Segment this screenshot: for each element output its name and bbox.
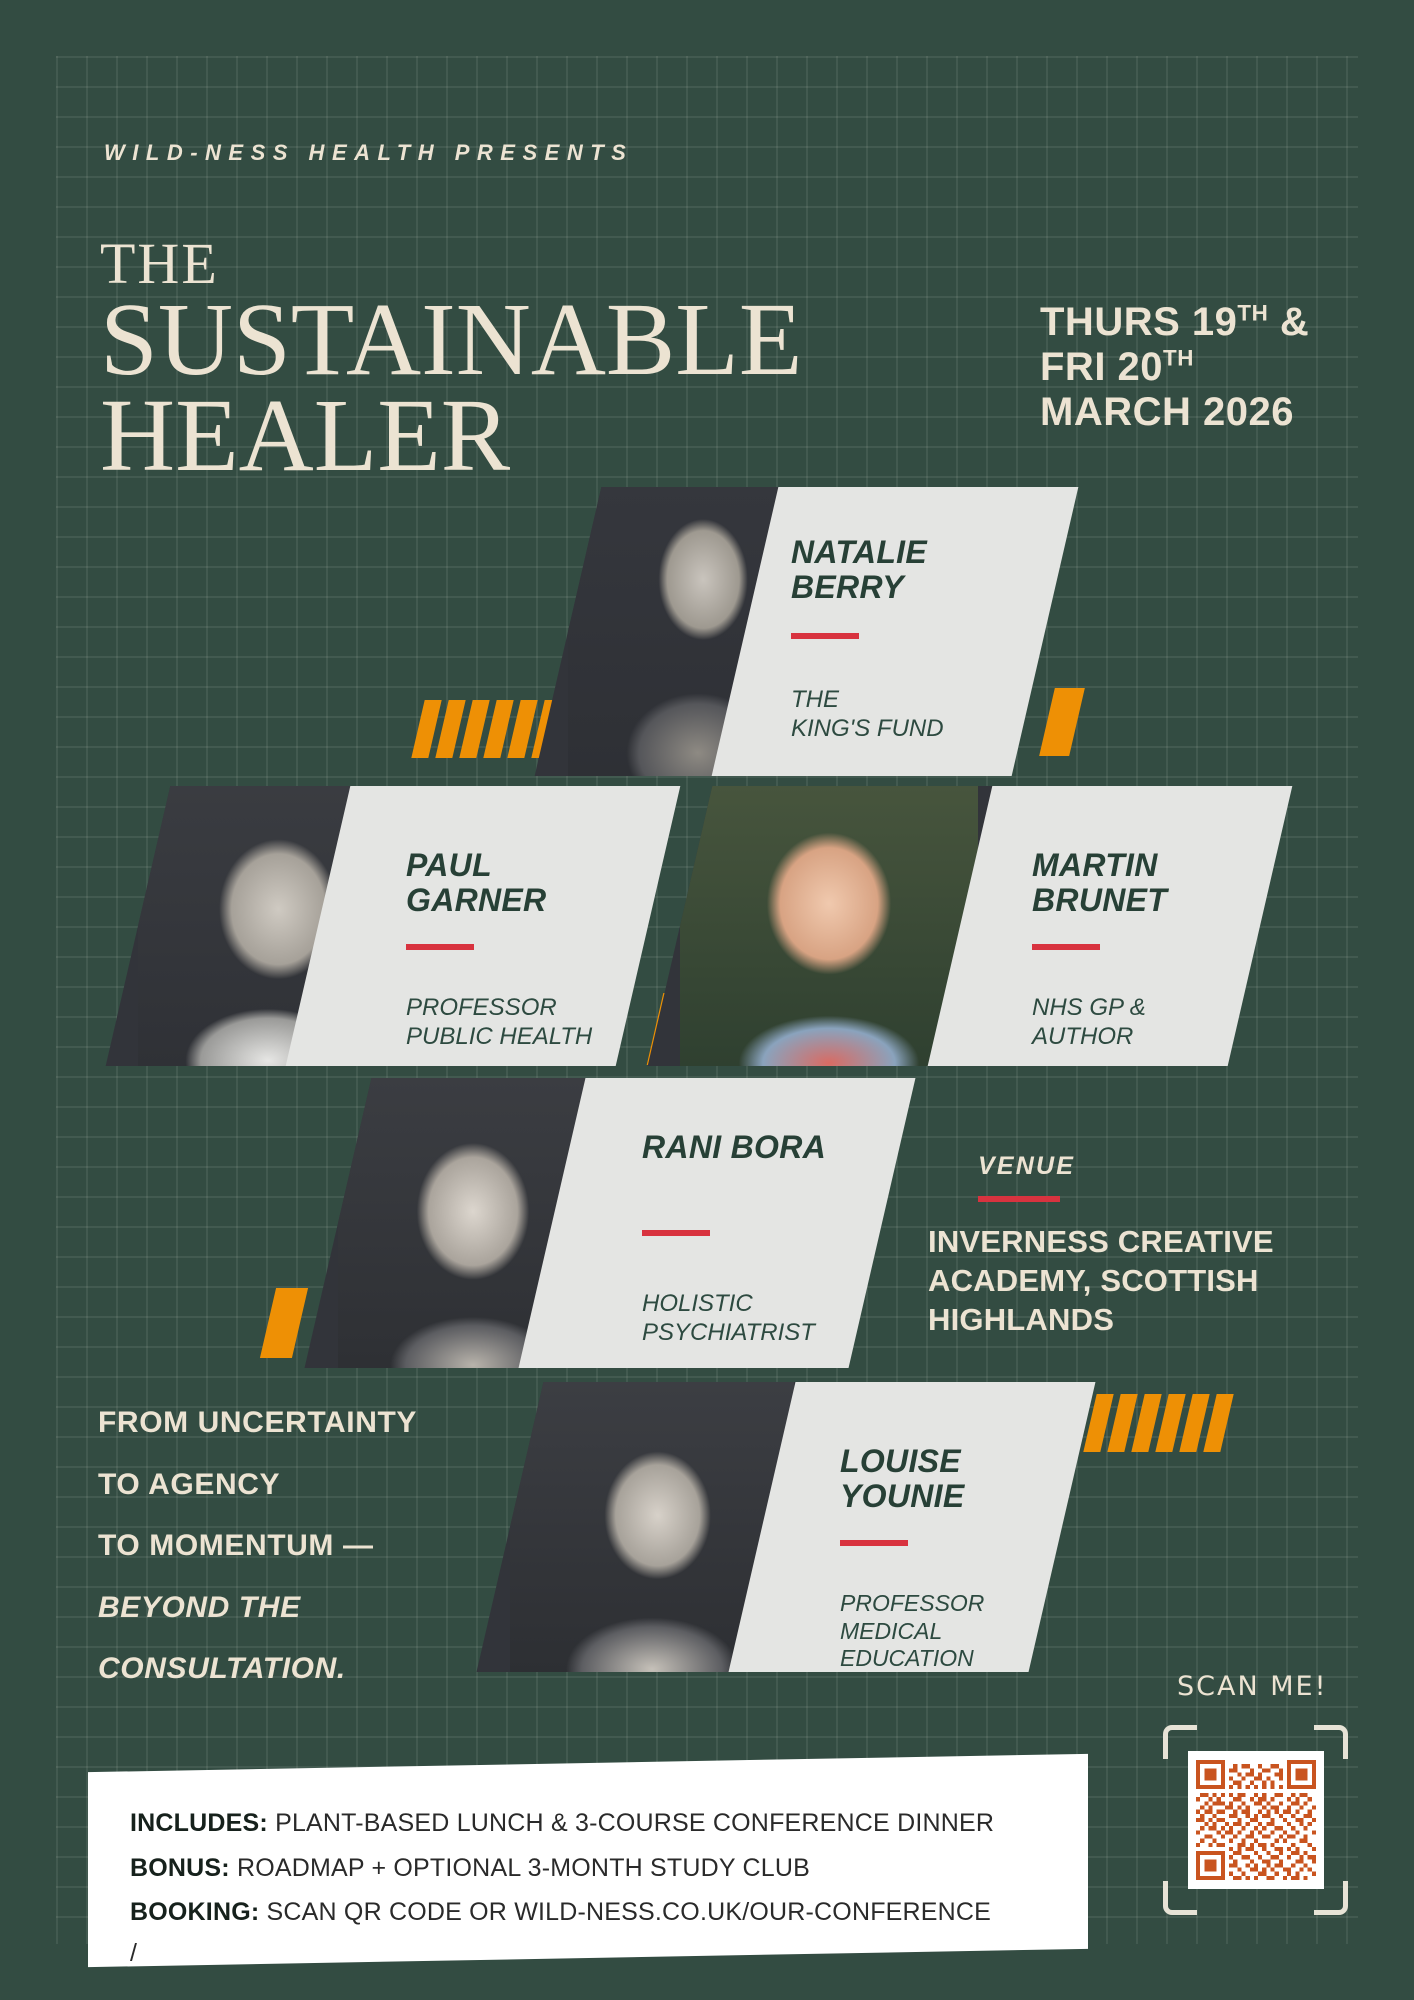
speaker-role-louise-younie: PROFESSOR MEDICAL EDUCATION [840, 1590, 984, 1672]
speaker-card-martin-brunet: MARTIN BRUNET NHS GP & AUTHOR [928, 786, 1293, 1066]
info-line-includes: INCLUDES: PLANT-BASED LUNCH & 3-COURSE C… [130, 1801, 1088, 1846]
info-bonus-value: ROADMAP + OPTIONAL 3-MONTH STUDY CLUB [230, 1854, 810, 1882]
venue-label: VENUE [978, 1152, 1075, 1181]
speaker-name-line2: YOUNIE [840, 1479, 965, 1514]
info-line-booking[interactable]: BOOKING: SCAN QR CODE OR WILD-NESS.CO.UK… [130, 1890, 1088, 1935]
stripe-group-row4 [1083, 1394, 1233, 1452]
date-line-1: THURS 19TH & [1040, 300, 1309, 345]
info-includes-label: INCLUDES: [130, 1809, 268, 1837]
speaker-name-line2: GARNER [406, 883, 546, 918]
info-line-bonus: BONUS: ROADMAP + OPTIONAL 3-MONTH STUDY … [130, 1846, 1088, 1891]
speaker-card-rani-bora: RANI BORA HOLISTIC PSYCHIATRIST [519, 1078, 916, 1368]
date-l1-pre: THURS 19 [1040, 300, 1237, 344]
speaker-card-paul-garner: PAUL GARNER PROFESSOR PUBLIC HEALTH [286, 786, 681, 1066]
venue-line2: ACADEMY, SCOTTISH [928, 1261, 1348, 1300]
date-l1-sup: TH [1237, 301, 1268, 326]
speaker-rule-martin-brunet [1032, 944, 1100, 950]
speaker-name-line1: NATALIE [791, 535, 927, 570]
date-l1-post: & [1268, 300, 1309, 344]
tagline-line5: CONSULTATION. [98, 1638, 498, 1700]
orange-bar-row3 [260, 1288, 308, 1358]
info-bonus-label: BONUS: [130, 1854, 230, 1882]
speaker-name-line1: RANI BORA [642, 1130, 826, 1165]
speaker-role-line1: HOLISTIC [642, 1290, 815, 1319]
stripe-bar [1203, 1394, 1233, 1452]
qr-code-image[interactable] [1188, 1751, 1324, 1889]
info-trailing-slash: / [130, 1935, 1088, 1973]
scan-me-label: SCAN ME! [1177, 1671, 1327, 1702]
speaker-role-line3: EDUCATION [840, 1645, 984, 1672]
poster-canvas: WILD-NESS HEALTH PRESENTS THE SUSTAINABL… [0, 0, 1414, 2000]
speaker-rule-natalie-berry [791, 633, 859, 639]
presenter-eyebrow: WILD-NESS HEALTH PRESENTS [104, 140, 633, 166]
speaker-role-line1: PROFESSOR [406, 994, 592, 1023]
speaker-role-paul-garner: PROFESSOR PUBLIC HEALTH [406, 994, 592, 1052]
speaker-role-line2: KING'S FUND [791, 715, 944, 744]
date-line-2: FRI 20TH [1040, 345, 1309, 390]
qr-icon [1196, 1759, 1316, 1881]
stripe-group-row1 [411, 700, 561, 758]
info-booking-label: BOOKING: [130, 1898, 259, 1926]
date-line-3: MARCH 2026 [1040, 390, 1309, 435]
tagline-line4: BEYOND THE [98, 1577, 498, 1639]
speaker-role-line1: PROFESSOR [840, 1590, 984, 1618]
speaker-rule-rani-bora [642, 1230, 710, 1236]
speaker-name-line1: PAUL [406, 848, 546, 883]
speaker-name-line2: BERRY [791, 570, 927, 605]
speaker-name-natalie-berry: NATALIE BERRY [791, 535, 927, 604]
date-l2-pre: FRI 20 [1040, 345, 1163, 389]
speaker-role-line2: MEDICAL [840, 1618, 984, 1646]
speaker-name-line2: BRUNET [1032, 883, 1167, 918]
info-bar: INCLUDES: PLANT-BASED LUNCH & 3-COURSE C… [88, 1754, 1088, 1967]
tagline-line1: FROM UNCERTAINTY [98, 1392, 498, 1454]
venue-line1: INVERNESS CREATIVE [928, 1222, 1348, 1261]
page-title: SUSTAINABLE HEALER [100, 292, 860, 483]
event-tagline: FROM UNCERTAINTY TO AGENCY TO MOMENTUM —… [98, 1392, 498, 1700]
speaker-role-line1: NHS GP & [1032, 994, 1146, 1023]
speaker-name-martin-brunet: MARTIN BRUNET [1032, 848, 1167, 917]
date-l2-sup: TH [1163, 346, 1194, 371]
info-booking-value[interactable]: SCAN QR CODE OR WILD-NESS.CO.UK/OUR-CONF… [259, 1898, 991, 1926]
speaker-name-paul-garner: PAUL GARNER [406, 848, 546, 917]
speaker-role-line2: PUBLIC HEALTH [406, 1023, 592, 1052]
speaker-name-line1: MARTIN [1032, 848, 1167, 883]
speaker-name-louise-younie: LOUISE YOUNIE [840, 1444, 965, 1513]
speaker-role-natalie-berry: THE KING'S FUND [791, 686, 944, 744]
orange-bar-row1 [1039, 688, 1085, 756]
speaker-name-line1: LOUISE [840, 1444, 965, 1479]
venue-rule [978, 1196, 1060, 1202]
speaker-rule-louise-younie [840, 1540, 908, 1546]
tagline-line3: TO MOMENTUM — [98, 1515, 498, 1577]
venue-address: INVERNESS CREATIVE ACADEMY, SCOTTISH HIG… [928, 1222, 1348, 1339]
speaker-role-rani-bora: HOLISTIC PSYCHIATRIST [642, 1290, 815, 1348]
speaker-role-line1: THE [791, 686, 944, 715]
speaker-role-line2: PSYCHIATRIST [642, 1319, 815, 1348]
speaker-name-rani-bora: RANI BORA [642, 1130, 826, 1165]
tagline-line2: TO AGENCY [98, 1454, 498, 1516]
info-includes-value: PLANT-BASED LUNCH & 3-COURSE CONFERENCE … [268, 1809, 994, 1837]
event-date: THURS 19TH & FRI 20TH MARCH 2026 [1040, 300, 1309, 436]
venue-line3: HIGHLANDS [928, 1300, 1348, 1339]
qr-code-frame[interactable] [1163, 1725, 1348, 1915]
speaker-rule-paul-garner [406, 944, 474, 950]
speaker-role-martin-brunet: NHS GP & AUTHOR [1032, 994, 1146, 1052]
speaker-role-line2: AUTHOR [1032, 1023, 1146, 1052]
